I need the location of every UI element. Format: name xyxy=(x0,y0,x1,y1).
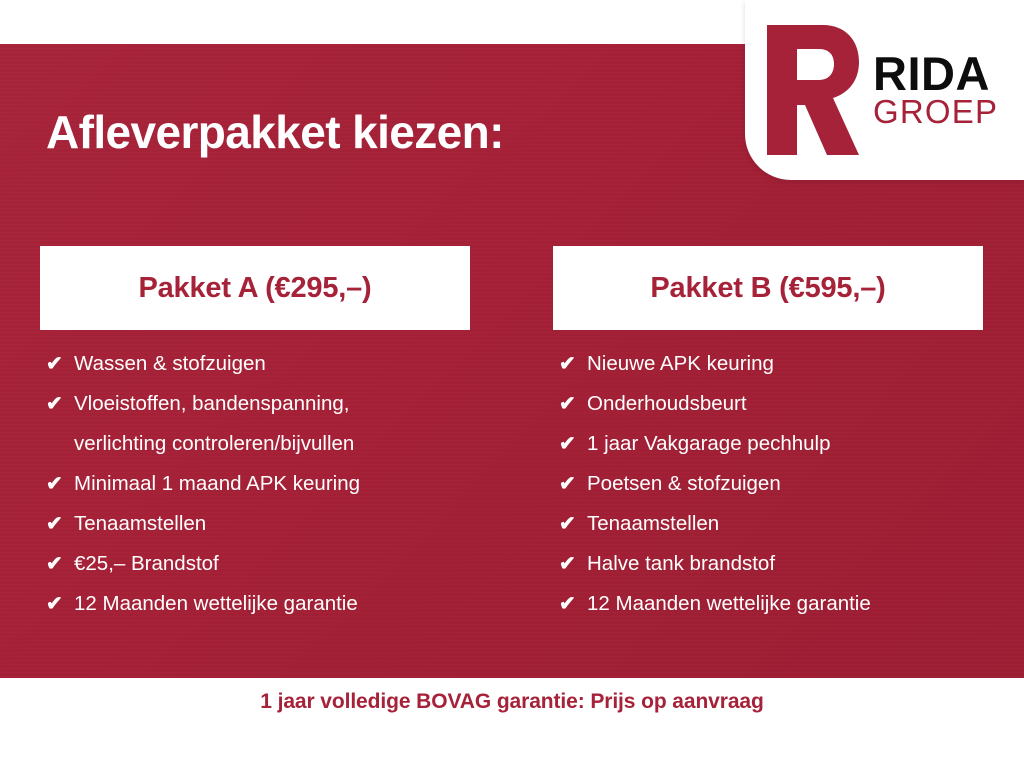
list-item: ✔€25,– Brandstof xyxy=(40,544,470,584)
list-item-label: Nieuwe APK keuring xyxy=(587,344,983,384)
list-item-label: €25,– Brandstof xyxy=(74,544,470,584)
check-icon: ✔ xyxy=(46,584,74,624)
list-item-line: Nieuwe APK keuring xyxy=(587,344,983,384)
page-title: Afleverpakket kiezen: xyxy=(46,109,504,155)
list-item-line: Halve tank brandstof xyxy=(587,544,983,584)
list-item: ✔Poetsen & stofzuigen xyxy=(553,464,983,504)
list-item-line: Wassen & stofzuigen xyxy=(74,344,470,384)
rida-r-monogram-icon xyxy=(767,25,859,155)
check-icon: ✔ xyxy=(559,424,587,464)
package-card-b[interactable]: Pakket B (€595,–) ✔Nieuwe APK keuring✔On… xyxy=(553,246,983,624)
slide-root: Afleverpakket kiezen: RIDA GROEP Pakket … xyxy=(0,0,1024,768)
logo: RIDA GROEP xyxy=(763,0,1024,180)
list-item-label: Vloeistoffen, bandenspanning,verlichting… xyxy=(74,384,470,464)
list-item: ✔Tenaamstellen xyxy=(553,504,983,544)
check-icon: ✔ xyxy=(559,504,587,544)
list-item-line: Poetsen & stofzuigen xyxy=(587,464,983,504)
logo-name-primary: RIDA xyxy=(873,52,998,95)
list-item: ✔12 Maanden wettelijke garantie xyxy=(40,584,470,624)
logo-plaque: RIDA GROEP xyxy=(745,0,1024,180)
list-item-label: 12 Maanden wettelijke garantie xyxy=(74,584,470,624)
list-item: ✔Tenaamstellen xyxy=(40,504,470,544)
check-icon: ✔ xyxy=(559,384,587,424)
footer-guarantee-text: 1 jaar volledige BOVAG garantie: Prijs o… xyxy=(260,690,763,714)
list-item: ✔Halve tank brandstof xyxy=(553,544,983,584)
logo-wordmark: RIDA GROEP xyxy=(873,52,998,128)
list-item: ✔Nieuwe APK keuring xyxy=(553,344,983,384)
list-item-label: Onderhoudsbeurt xyxy=(587,384,983,424)
list-item-line: Vloeistoffen, bandenspanning, xyxy=(74,384,470,424)
list-item: ✔Minimaal 1 maand APK keuring xyxy=(40,464,470,504)
list-item: ✔1 jaar Vakgarage pechhulp xyxy=(553,424,983,464)
list-item: ✔Onderhoudsbeurt xyxy=(553,384,983,424)
list-item-label: 12 Maanden wettelijke garantie xyxy=(587,584,983,624)
package-b-feature-list: ✔Nieuwe APK keuring✔Onderhoudsbeurt✔1 ja… xyxy=(553,330,983,624)
footer-banner: 1 jaar volledige BOVAG garantie: Prijs o… xyxy=(0,678,1024,768)
check-icon: ✔ xyxy=(46,504,74,544)
list-item-label: Wassen & stofzuigen xyxy=(74,344,470,384)
package-b-title: Pakket B (€595,–) xyxy=(650,272,885,305)
check-icon: ✔ xyxy=(559,584,587,624)
list-item-line: Tenaamstellen xyxy=(587,504,983,544)
list-item-line: €25,– Brandstof xyxy=(74,544,470,584)
check-icon: ✔ xyxy=(559,344,587,384)
list-item-label: Minimaal 1 maand APK keuring xyxy=(74,464,470,504)
package-a-header: Pakket A (€295,–) xyxy=(40,246,470,330)
list-item: ✔Wassen & stofzuigen xyxy=(40,344,470,384)
list-item: ✔12 Maanden wettelijke garantie xyxy=(553,584,983,624)
check-icon: ✔ xyxy=(46,384,74,424)
list-item: ✔Vloeistoffen, bandenspanning,verlichtin… xyxy=(40,384,470,464)
package-b-header: Pakket B (€595,–) xyxy=(553,246,983,330)
list-item-line: Tenaamstellen xyxy=(74,504,470,544)
list-item-label: Poetsen & stofzuigen xyxy=(587,464,983,504)
list-item-line: verlichting controleren/bijvullen xyxy=(74,424,470,464)
check-icon: ✔ xyxy=(46,464,74,504)
package-card-a[interactable]: Pakket A (€295,–) ✔Wassen & stofzuigen✔V… xyxy=(40,246,470,624)
list-item-line: 12 Maanden wettelijke garantie xyxy=(587,584,983,624)
package-a-title: Pakket A (€295,–) xyxy=(138,272,371,305)
check-icon: ✔ xyxy=(559,544,587,584)
check-icon: ✔ xyxy=(46,344,74,384)
list-item-label: Tenaamstellen xyxy=(587,504,983,544)
check-icon: ✔ xyxy=(46,544,74,584)
check-icon: ✔ xyxy=(559,464,587,504)
list-item-line: 1 jaar Vakgarage pechhulp xyxy=(587,424,983,464)
list-item-line: Minimaal 1 maand APK keuring xyxy=(74,464,470,504)
logo-name-secondary: GROEP xyxy=(873,97,998,127)
package-a-feature-list: ✔Wassen & stofzuigen✔Vloeistoffen, bande… xyxy=(40,330,470,624)
list-item-line: 12 Maanden wettelijke garantie xyxy=(74,584,470,624)
list-item-label: 1 jaar Vakgarage pechhulp xyxy=(587,424,983,464)
list-item-line: Onderhoudsbeurt xyxy=(587,384,983,424)
list-item-label: Halve tank brandstof xyxy=(587,544,983,584)
list-item-label: Tenaamstellen xyxy=(74,504,470,544)
